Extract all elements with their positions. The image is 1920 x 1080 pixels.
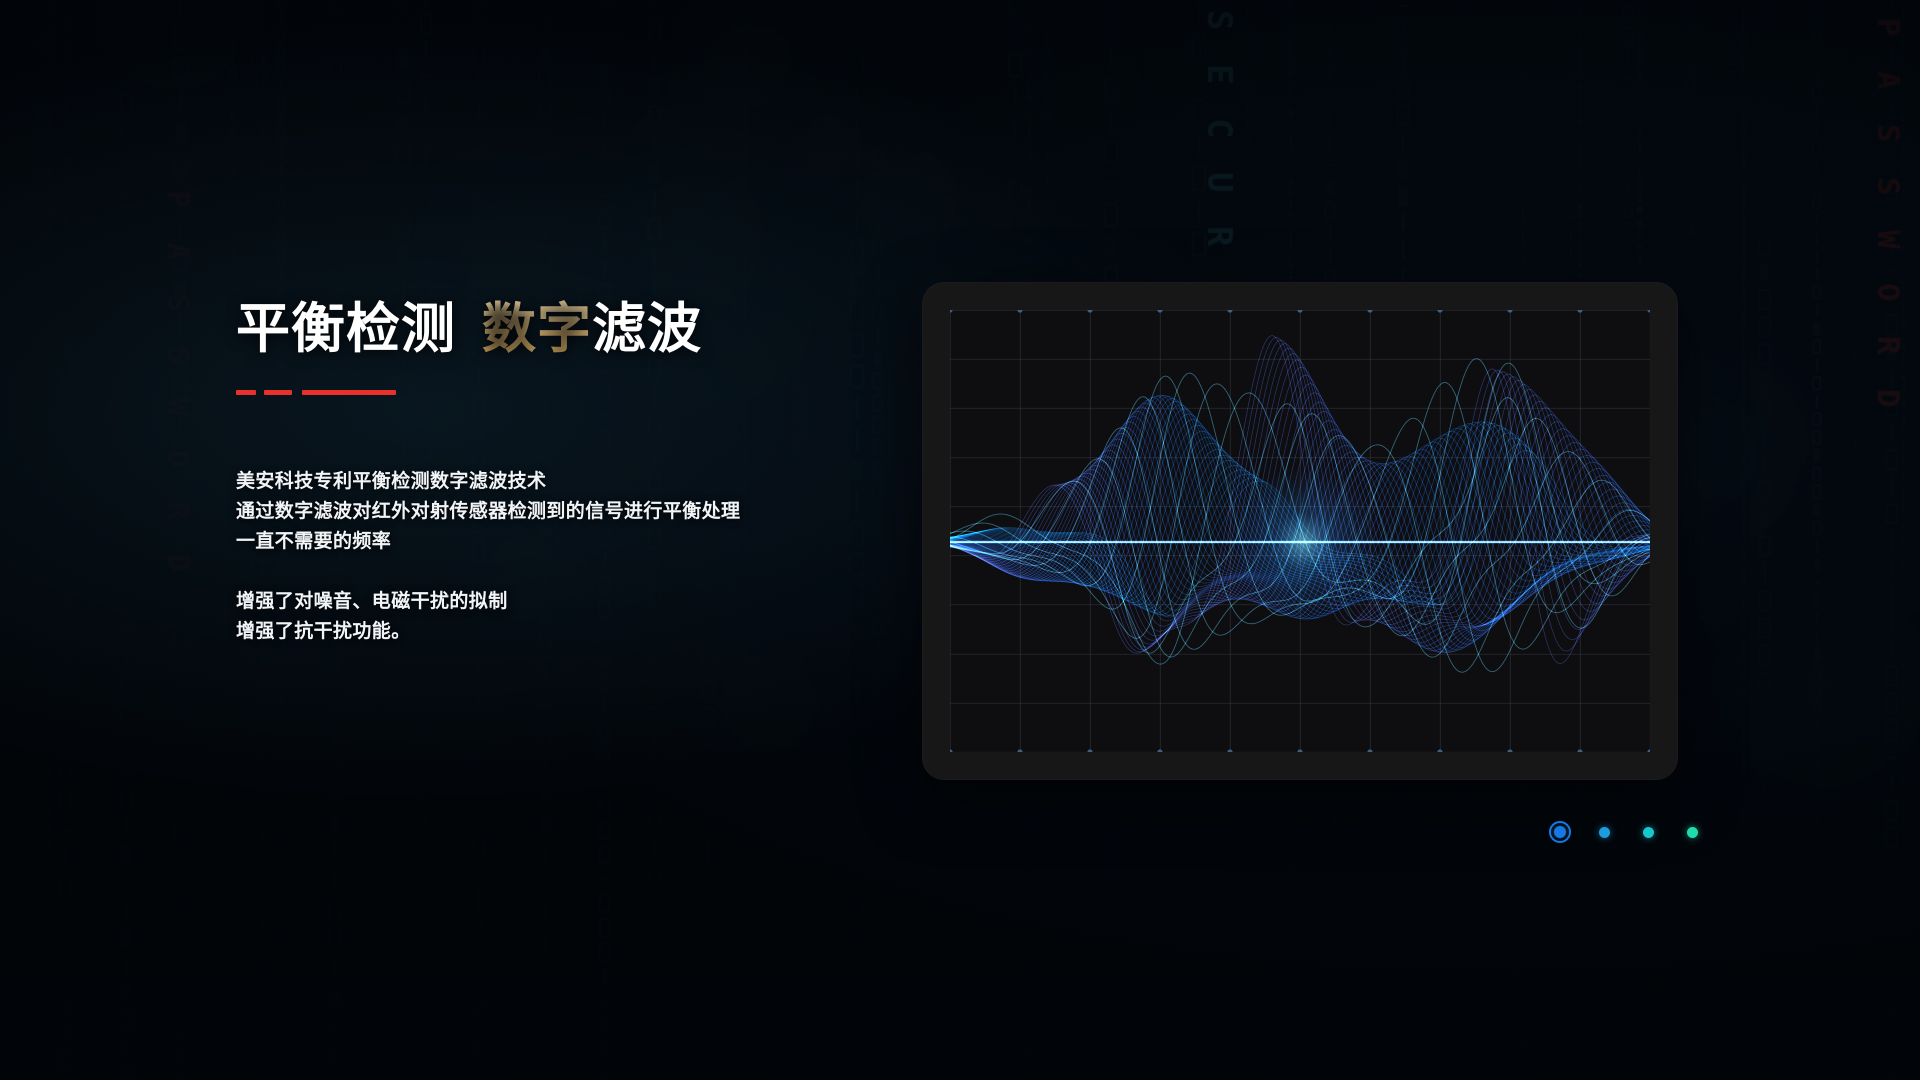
page-title-part-1: 平衡检测: [236, 299, 456, 359]
pagination-dot-core: [1599, 827, 1610, 838]
title-divider: [236, 390, 396, 395]
pagination-dot-3[interactable]: [1636, 820, 1660, 844]
pagination-active-ring: [1549, 821, 1571, 843]
body-line: 增强了对噪音、电磁干扰的拟制: [236, 587, 876, 617]
body-line: 美安科技专利平衡检测数字滤波技术: [236, 467, 876, 497]
pagination-dot-4[interactable]: [1680, 820, 1704, 844]
pagination-dot-2[interactable]: [1592, 820, 1616, 844]
divider-dash-1: [236, 390, 256, 395]
waveform-panel: [922, 282, 1678, 780]
slide-text-column: 平衡检测数字滤波 美安科技专利平衡检测数字滤波技术 通过数字滤波对红外对射传感器…: [236, 300, 876, 647]
page-title-part-2-gold: 数字: [482, 299, 592, 359]
waveform-screen: [950, 310, 1650, 752]
carousel-pagination[interactable]: [1548, 820, 1704, 844]
divider-bar: [302, 390, 396, 395]
pagination-dot-core: [1643, 827, 1654, 838]
body-line: 一直不需要的频率: [236, 527, 876, 557]
body-line: 通过数字滤波对红外对射传感器检测到的信号进行平衡处理: [236, 497, 876, 527]
waveform-chart: [950, 310, 1650, 752]
slide-body-text: 美安科技专利平衡检测数字滤波技术 通过数字滤波对红外对射传感器检测到的信号进行平…: [236, 467, 876, 647]
divider-dash-2: [264, 390, 292, 395]
body-line: 增强了抗干扰功能。: [236, 617, 876, 647]
page-title: 平衡检测数字滤波: [236, 300, 876, 358]
paragraph-gap: [236, 557, 876, 587]
pagination-dot-core: [1687, 827, 1698, 838]
pagination-dot-1[interactable]: [1548, 820, 1572, 844]
page-title-part-3: 滤波: [592, 299, 702, 359]
